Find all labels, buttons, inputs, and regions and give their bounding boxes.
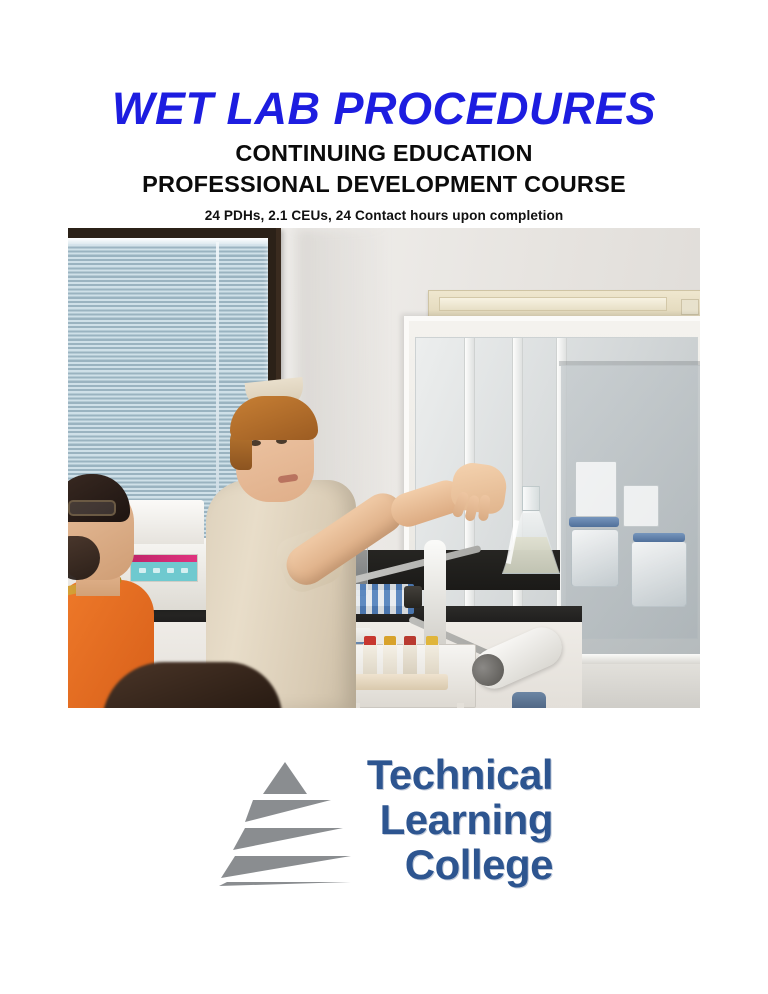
subtitle-line-2: PROFESSIONAL DEVELOPMENT COURSE <box>0 170 768 199</box>
hood-blue-container <box>569 517 619 527</box>
logo: Technical Learning College <box>219 754 549 894</box>
pipettor <box>424 540 446 648</box>
instructor-hair <box>230 396 318 440</box>
reagent-bottle <box>403 643 417 677</box>
hood-glassware <box>571 529 619 587</box>
photo-canvas <box>68 228 700 708</box>
logo-line-3: College <box>271 844 553 885</box>
instructor <box>206 378 402 708</box>
flask-neck <box>522 486 540 513</box>
instrument-key <box>181 568 188 573</box>
blind-headrail <box>68 238 268 244</box>
heading-block: WET LAB PROCEDURES CONTINUING EDUCATION … <box>0 0 768 223</box>
logo-line-2: Learning <box>271 799 553 840</box>
cover-photo <box>68 228 700 708</box>
hood-interior-item <box>575 461 617 517</box>
hood-interior-item <box>623 485 659 527</box>
dark-jar <box>404 586 422 608</box>
reagent-bottle-cap <box>426 636 438 645</box>
organization-logo: Technical Learning College <box>0 754 768 894</box>
erlenmeyer-flask <box>502 486 558 572</box>
blue-jar <box>512 692 546 708</box>
reagent-bottle-cap <box>404 636 416 645</box>
reagent-bottle <box>425 643 439 677</box>
page-title: WET LAB PROCEDURES <box>0 86 768 132</box>
logo-line-1: Technical <box>271 754 553 795</box>
fume-hood-top-tab <box>681 299 699 315</box>
hood-glassware <box>631 541 687 607</box>
fume-hood-top-panel <box>439 297 667 311</box>
credits-line: 24 PDHs, 2.1 CEUs, 24 Contact hours upon… <box>0 208 768 223</box>
student-glasses <box>68 500 116 516</box>
hood-blue-container <box>633 533 685 542</box>
cover-page: WET LAB PROCEDURES CONTINUING EDUCATION … <box>0 0 768 994</box>
logo-wordmark: Technical Learning College <box>271 754 553 885</box>
rack-leg <box>457 703 464 708</box>
subtitle-line-1: CONTINUING EDUCATION <box>0 139 768 168</box>
